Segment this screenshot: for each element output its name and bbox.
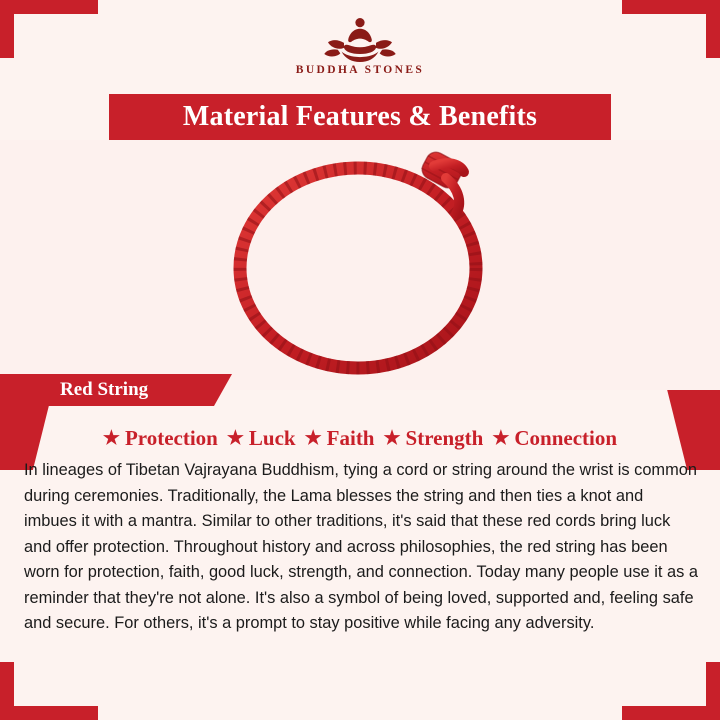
infographic-page: BUDDHA STONES Material Features & Benefi… [0,0,720,720]
star-icon: ★ [384,429,401,448]
star-icon: ★ [103,429,120,448]
brand-name: BUDDHA STONES [296,64,424,76]
keyword-label: Strength [406,426,484,451]
keyword-item: ★ Faith [296,426,375,451]
red-braided-bracelet-image [210,150,510,380]
star-icon: ★ [492,429,509,448]
corner-bottom-right-vertical [706,662,720,720]
star-icon: ★ [305,429,322,448]
title-banner: Material Features & Benefits [109,94,611,140]
keyword-label: Faith [327,426,375,451]
page-title: Material Features & Benefits [183,101,537,133]
keyword-item: ★ Protection [103,426,218,451]
corner-bottom-left-vertical [0,662,14,720]
description-paragraph: In lineages of Tibetan Vajrayana Buddhis… [24,458,698,637]
product-label: Red String [60,379,148,401]
keyword-label: Protection [125,426,218,451]
keyword-item: ★ Strength [375,426,484,451]
keyword-label: Luck [249,426,296,451]
keyword-label: Connection [514,426,617,451]
keyword-item: ★ Luck [218,426,296,451]
star-icon: ★ [227,429,244,448]
brand-logo: BUDDHA STONES [0,14,720,88]
product-label-tag: Red String [0,374,232,406]
corner-bottom-left-horizontal [0,706,98,720]
keyword-item: ★ Connection [483,426,617,451]
lotus-meditation-icon [323,14,397,62]
benefit-keywords-row: ★ Protection ★ Luck ★ Faith ★ Strength ★… [0,420,720,456]
product-image-area [0,140,720,390]
corner-top-left-horizontal [0,0,98,14]
